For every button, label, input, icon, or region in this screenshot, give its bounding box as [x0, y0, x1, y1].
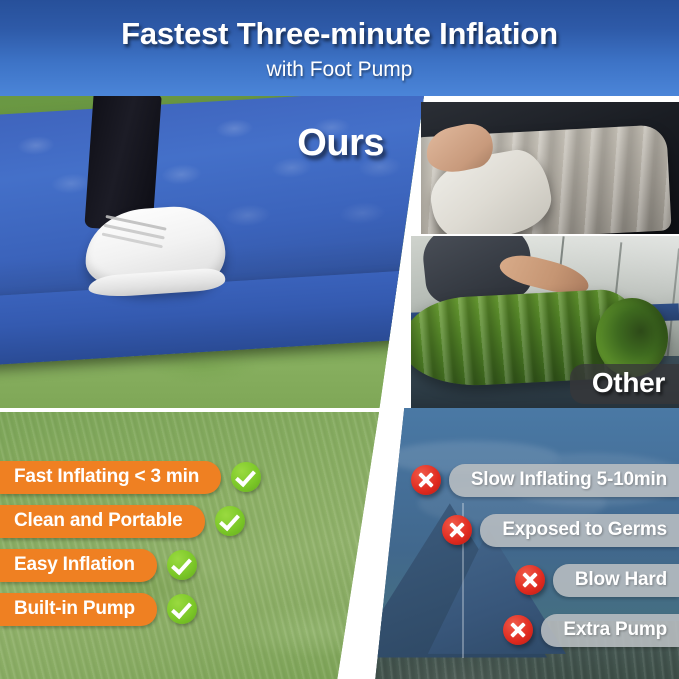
other-label-pill: Other	[570, 364, 679, 404]
product-comparison-infographic: Fastest Three-minute Inflation with Foot…	[0, 0, 679, 679]
page-title: Fastest Three-minute Inflation	[0, 16, 679, 52]
pros-item-label: Clean and Portable	[0, 505, 205, 538]
cons-feature-list: Slow Inflating 5-10min Exposed to Germs …	[370, 455, 679, 655]
other-label: Other	[592, 367, 665, 398]
pros-list-item: Fast Inflating < 3 min	[0, 455, 340, 499]
photo-ours-mattress: Ours	[0, 96, 424, 408]
check-icon	[167, 550, 197, 580]
shoe-laces	[106, 215, 167, 231]
x-icon	[503, 615, 533, 645]
cons-list-item: Extra Pump	[370, 605, 679, 655]
x-icon	[411, 465, 441, 495]
pros-list-item: Built-in Pump	[0, 587, 340, 631]
page-subtitle: with Foot Pump	[0, 58, 679, 82]
photo-other-car-mattress	[421, 102, 679, 234]
pros-list-item: Easy Inflation	[0, 543, 340, 587]
check-icon	[231, 462, 261, 492]
cons-list-item: Exposed to Germs	[370, 505, 679, 555]
pros-item-label: Built-in Pump	[0, 593, 157, 626]
ours-label: Ours	[297, 122, 384, 165]
cons-item-label: Exposed to Germs	[480, 514, 679, 547]
check-icon	[167, 594, 197, 624]
pros-feature-list: Fast Inflating < 3 min Clean and Portabl…	[0, 455, 340, 631]
cons-list-item: Blow Hard	[370, 555, 679, 605]
cons-item-label: Extra Pump	[541, 614, 679, 647]
x-icon	[515, 565, 545, 595]
cons-item-label: Slow Inflating 5-10min	[449, 464, 679, 497]
x-icon	[442, 515, 472, 545]
cons-item-label: Blow Hard	[553, 564, 679, 597]
pros-item-label: Easy Inflation	[0, 549, 157, 582]
pros-list-item: Clean and Portable	[0, 499, 340, 543]
pros-item-label: Fast Inflating < 3 min	[0, 461, 221, 494]
cons-list-item: Slow Inflating 5-10min	[370, 455, 679, 505]
check-icon	[215, 506, 245, 536]
photo-other-sleeping-bag: Other	[411, 236, 679, 408]
header-banner: Fastest Three-minute Inflation with Foot…	[0, 0, 679, 96]
